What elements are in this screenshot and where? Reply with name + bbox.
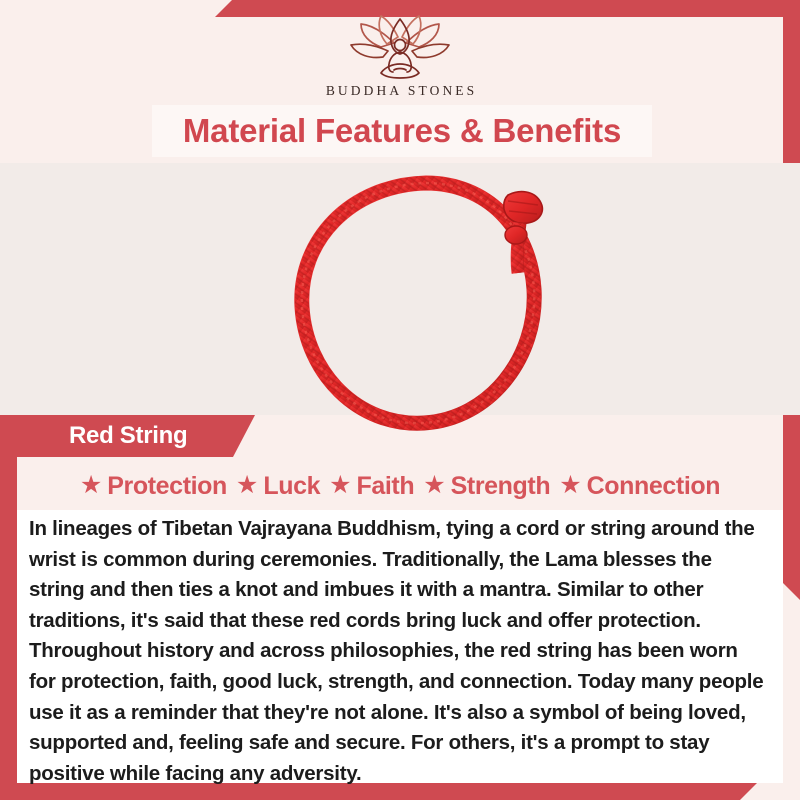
- benefit-label: Luck: [263, 472, 320, 501]
- benefit-item: ★ Strength: [423, 472, 550, 501]
- benefit-item: ★ Connection: [559, 472, 720, 501]
- brand-logo-block: BUDDHA STONES: [0, 14, 800, 99]
- star-icon: ★: [559, 473, 581, 498]
- benefit-item: ★ Luck: [236, 472, 320, 501]
- description-panel: In lineages of Tibetan Vajrayana Buddhis…: [17, 510, 783, 783]
- benefit-label: Connection: [587, 472, 721, 501]
- lotus-meditation-figure-icon: [346, 14, 454, 80]
- product-infographic-poster: BUDDHA STONES Material Features & Benefi…: [0, 0, 800, 800]
- description-text: In lineages of Tibetan Vajrayana Buddhis…: [29, 514, 765, 789]
- benefit-label: Faith: [357, 472, 415, 501]
- red-braided-string-bracelet: [258, 161, 588, 451]
- star-icon: ★: [329, 473, 351, 498]
- benefit-label: Protection: [107, 472, 227, 501]
- hero-section: [0, 163, 800, 415]
- brand-wordmark: BUDDHA STONES: [0, 83, 800, 99]
- page-title: Material Features & Benefits: [183, 112, 621, 150]
- benefit-item: ★ Faith: [329, 472, 414, 501]
- star-icon: ★: [236, 473, 258, 498]
- star-icon: ★: [423, 473, 445, 498]
- benefit-label: Strength: [451, 472, 551, 501]
- benefits-list: ★ Protection ★ Luck ★ Faith ★ Strength ★…: [0, 462, 800, 510]
- title-banner: Material Features & Benefits: [152, 105, 652, 157]
- benefit-item: ★ Protection: [80, 472, 227, 501]
- material-label-banner: Red String: [17, 415, 255, 457]
- material-label: Red String: [17, 422, 187, 450]
- star-icon: ★: [80, 473, 102, 498]
